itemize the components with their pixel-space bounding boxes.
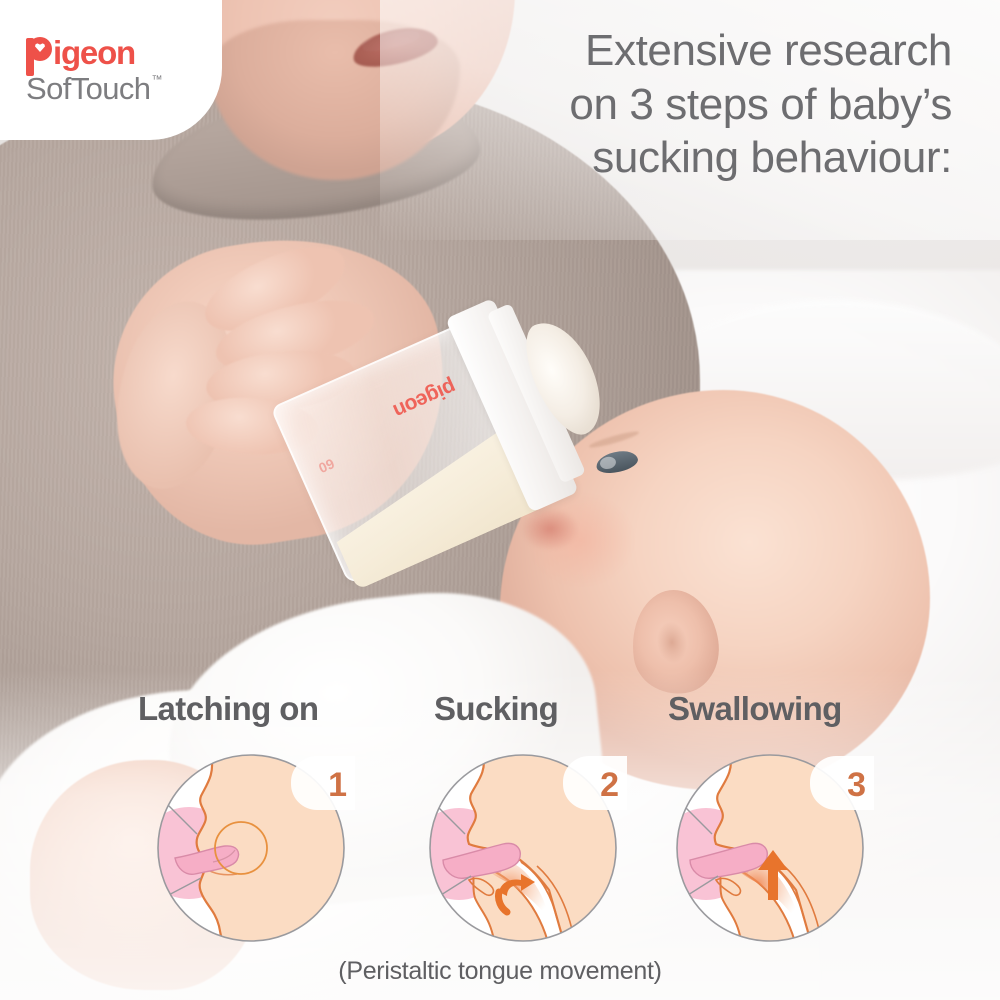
step-label-latching-on: Latching on xyxy=(138,690,318,728)
diagram-step-2: 2 xyxy=(425,750,621,946)
softouch-wordmark: SofTouch ™ xyxy=(26,73,222,104)
bottle-brand-label: pigeon xyxy=(390,374,460,423)
step-number-3: 3 xyxy=(847,768,866,802)
diagram-step-3: 3 xyxy=(672,750,868,946)
pigeon-p-heart-icon xyxy=(26,36,52,69)
step-diagrams: 1 xyxy=(0,750,1000,950)
headline-line-1: Extensive research xyxy=(392,24,952,78)
headline-line-2: on 3 steps of baby’s xyxy=(392,78,952,132)
step-label-sucking: Sucking xyxy=(434,690,558,728)
headline-line-3: sucking behaviour: xyxy=(392,131,952,185)
headline: Extensive research on 3 steps of baby’s … xyxy=(392,24,952,185)
brand-logo-badge: igeon SofTouch ™ xyxy=(0,0,222,140)
pigeon-wordmark: igeon xyxy=(26,36,222,69)
trademark-symbol: ™ xyxy=(151,75,161,86)
promo-image: 60 pigeon igeon SofTouch ™ Ex xyxy=(0,0,1000,1000)
step-labels: Latching on Sucking Swallowing xyxy=(0,690,1000,736)
bottle-scale-marking: 60 xyxy=(316,455,337,476)
step-number-1: 1 xyxy=(328,768,347,802)
diagram-caption: (Peristaltic tongue movement) xyxy=(0,957,1000,986)
diagram-step-1: 1 xyxy=(153,750,349,946)
step-label-swallowing: Swallowing xyxy=(668,690,842,728)
pigeon-wordmark-text: igeon xyxy=(53,36,135,69)
step-number-2: 2 xyxy=(600,768,619,802)
softouch-text: SofTouch xyxy=(26,73,150,104)
